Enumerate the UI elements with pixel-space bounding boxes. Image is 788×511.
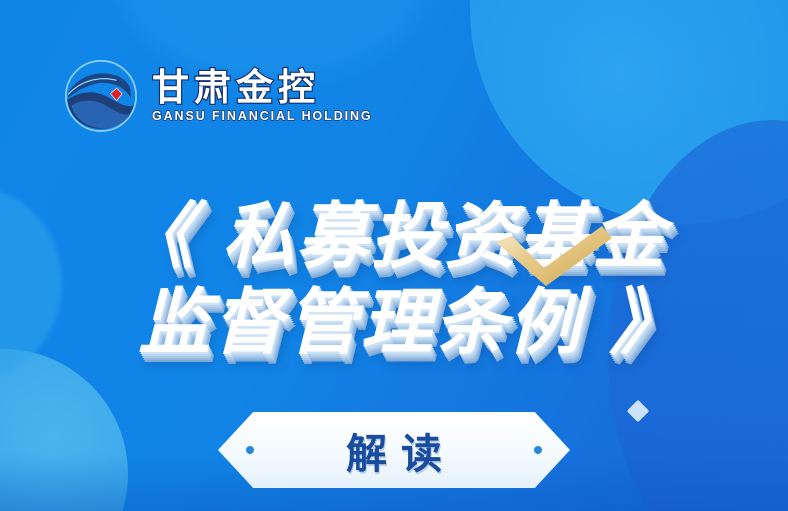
- background-blob-bottom-left: [0, 349, 128, 511]
- interpretation-badge: 解读: [218, 412, 570, 488]
- poster-canvas: 甘肃金控 GANSU FINANCIAL HOLDING 《 私募投资基金 监督…: [0, 0, 788, 511]
- company-name-english: GANSU FINANCIAL HOLDING: [152, 109, 373, 123]
- headline-line-2: 监督管理条例 》: [0, 272, 788, 372]
- brand-logo-lockup: 甘肃金控 GANSU FINANCIAL HOLDING: [62, 57, 373, 135]
- gansu-financial-holding-logo-icon: [62, 57, 140, 135]
- decorative-diamond-icon: [627, 400, 650, 423]
- badge-label: 解读: [218, 412, 570, 488]
- headline-line-1: 《 私募投资基金: [0, 186, 788, 286]
- company-name-chinese: 甘肃金控: [152, 69, 373, 106]
- brand-wordmark: 甘肃金控 GANSU FINANCIAL HOLDING: [152, 69, 373, 123]
- headline-block: 《 私募投资基金 监督管理条例 》: [0, 186, 788, 372]
